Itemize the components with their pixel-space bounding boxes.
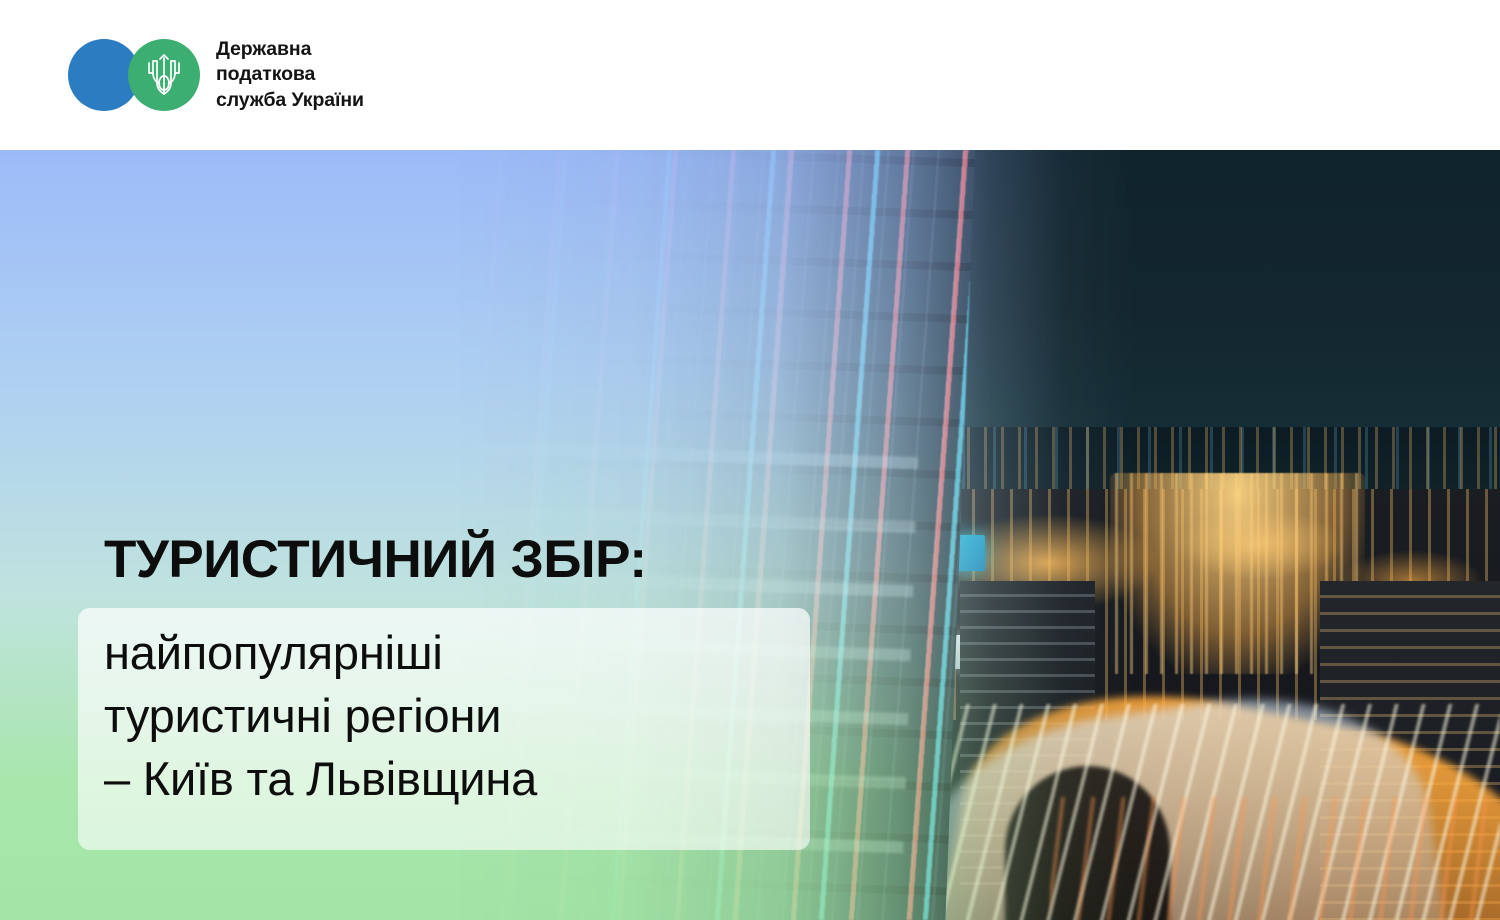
header-bar: Державна податкова служба України (0, 0, 1500, 150)
organization-logo: Державна податкова служба України (68, 37, 364, 113)
headline-title: ТУРИСТИЧНИЙ ЗБІР: (104, 532, 646, 588)
logo-marks (68, 39, 200, 111)
organization-name: Державна податкова служба України (216, 37, 364, 113)
ukrainian-trident-emblem (128, 39, 200, 111)
hero-section: ТУРИСТИЧНИЙ ЗБІР: найпопулярніші туристи… (0, 150, 1500, 920)
promo-banner: Державна податкова служба України (0, 0, 1500, 920)
hero-content: ТУРИСТИЧНИЙ ЗБІР: найпопулярніші туристи… (0, 150, 1500, 920)
subtitle-text: найпопулярніші туристичні регіони – Київ… (104, 622, 804, 811)
